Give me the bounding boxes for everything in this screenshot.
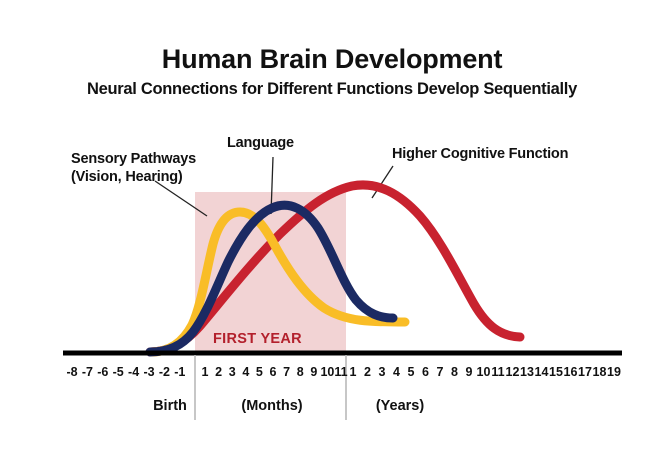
axis-tick-childhood-11: 11: [491, 365, 504, 379]
first-year-band-label: FIRST YEAR: [213, 331, 302, 347]
chart-plot-area: [0, 0, 664, 460]
axis-tick-first-year-11: 11: [334, 365, 347, 379]
axis-tick-first-year-7: 7: [283, 365, 290, 379]
phase-label-years: (Years): [376, 398, 424, 414]
annotation-sensory-line2: (Vision, Hearing): [71, 168, 196, 186]
annotation-sensory-line1: Sensory Pathways: [71, 150, 196, 168]
axis-tick-first-year-5: 5: [256, 365, 263, 379]
axis-tick-prenatal--8: -8: [66, 365, 77, 379]
axis-tick-childhood-10: 10: [477, 365, 491, 379]
axis-tick-prenatal--4: -4: [128, 365, 139, 379]
axis-tick-first-year-6: 6: [270, 365, 277, 379]
first-year-band: [195, 192, 346, 353]
axis-tick-prenatal--1: -1: [174, 365, 185, 379]
axis-tick-childhood-4: 4: [393, 365, 400, 379]
brain-development-chart: Human Brain Development Neural Connectio…: [0, 0, 664, 460]
axis-tick-childhood-12: 12: [506, 365, 520, 379]
phase-label-months: (Months): [241, 398, 302, 414]
axis-tick-first-year-1: 1: [202, 365, 209, 379]
axis-tick-childhood-6: 6: [422, 365, 429, 379]
annotation-higher-cognitive: Higher Cognitive Function: [392, 145, 568, 163]
axis-tick-prenatal--3: -3: [143, 365, 154, 379]
annotation-sensory-pathways: Sensory Pathways (Vision, Hearing): [71, 150, 196, 186]
axis-tick-first-year-8: 8: [297, 365, 304, 379]
axis-tick-first-year-2: 2: [215, 365, 222, 379]
phase-label-birth: Birth: [153, 398, 187, 414]
axis-tick-childhood-19: 19: [607, 365, 621, 379]
axis-tick-childhood-3: 3: [379, 365, 386, 379]
axis-tick-prenatal--2: -2: [159, 365, 170, 379]
axis-tick-childhood-2: 2: [364, 365, 371, 379]
axis-tick-childhood-18: 18: [593, 365, 607, 379]
axis-tick-first-year-9: 9: [310, 365, 317, 379]
axis-tick-childhood-15: 15: [549, 365, 563, 379]
axis-tick-first-year-10: 10: [320, 365, 334, 379]
axis-tick-childhood-5: 5: [408, 365, 415, 379]
axis-tick-first-year-3: 3: [229, 365, 236, 379]
axis-tick-childhood-16: 16: [564, 365, 578, 379]
axis-tick-childhood-9: 9: [466, 365, 473, 379]
axis-tick-prenatal--5: -5: [113, 365, 124, 379]
axis-tick-prenatal--7: -7: [82, 365, 93, 379]
axis-tick-prenatal--6: -6: [97, 365, 108, 379]
annotation-language: Language: [227, 134, 294, 152]
axis-tick-first-year-4: 4: [242, 365, 249, 379]
axis-tick-childhood-14: 14: [535, 365, 549, 379]
axis-tick-childhood-1: 1: [350, 365, 357, 379]
axis-tick-childhood-13: 13: [520, 365, 534, 379]
axis-tick-childhood-17: 17: [578, 365, 592, 379]
axis-tick-childhood-7: 7: [437, 365, 444, 379]
axis-tick-childhood-8: 8: [451, 365, 458, 379]
